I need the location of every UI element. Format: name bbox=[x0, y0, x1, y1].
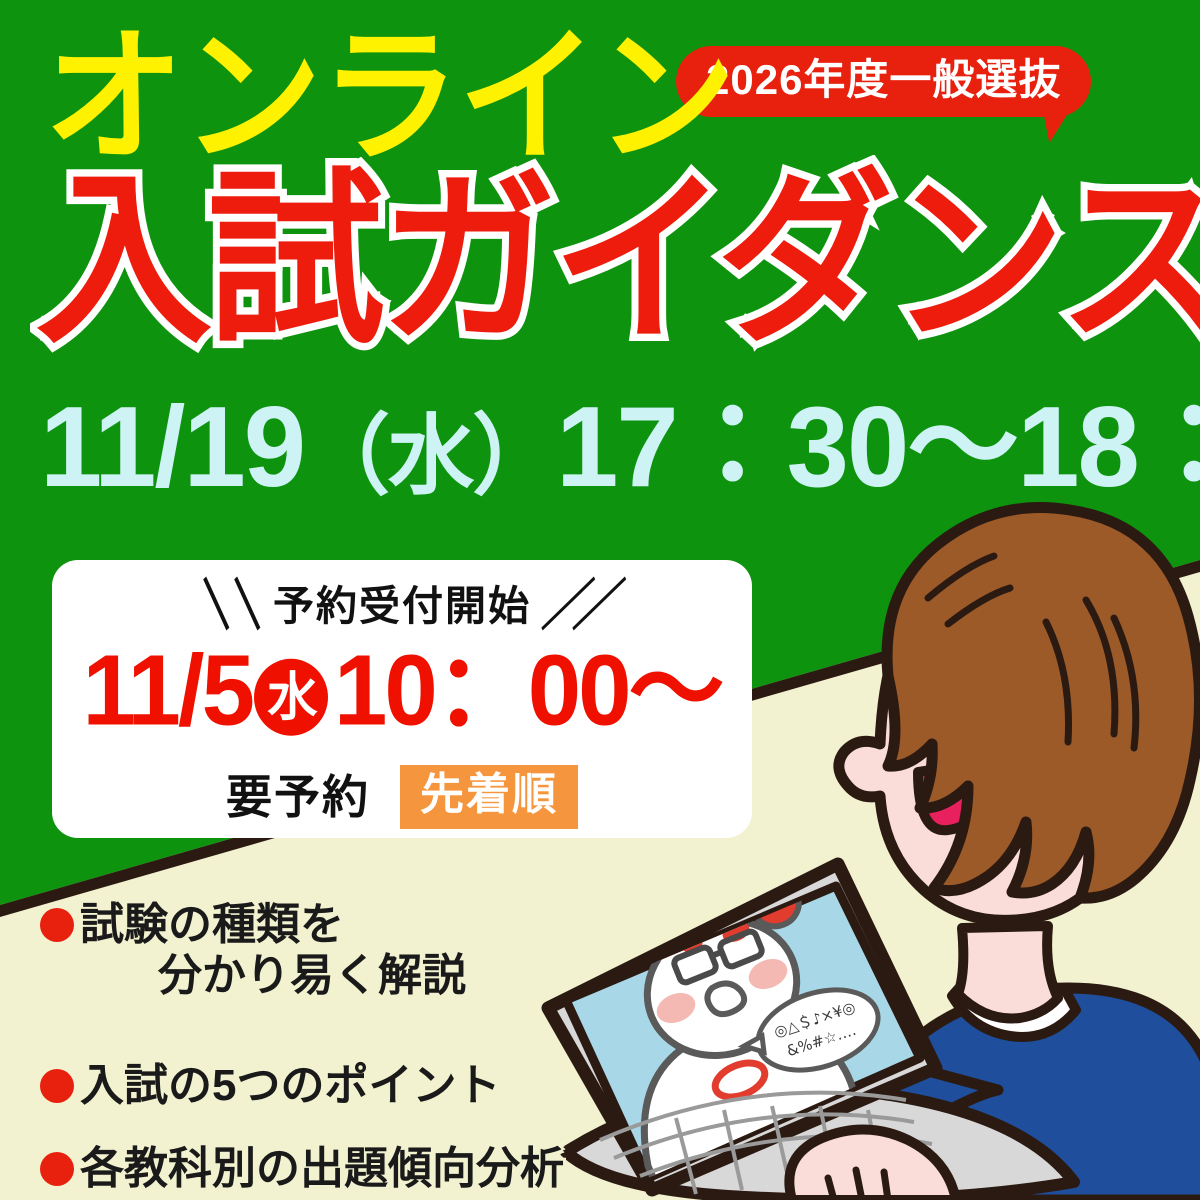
reservation-open-time: 10：00〜 bbox=[334, 635, 722, 746]
reservation-heading: ＼＼予約受付開始／／ bbox=[52, 586, 752, 627]
first-come-badge: 先着順 bbox=[400, 765, 578, 829]
bullet-1-line-2: 分かり易く解説 bbox=[158, 951, 680, 1000]
headline-online: オンライン bbox=[44, 24, 734, 171]
feature-bullet-list: 試験の種類を 分かり易く解説 入試の5つのポイント 各教科別の出題傾向分析 bbox=[40, 900, 680, 1193]
reservation-open-date: 11/5 bbox=[82, 635, 252, 746]
event-date: 11/19 bbox=[40, 383, 304, 511]
reservation-footer: 要予約 先着順 bbox=[52, 765, 752, 829]
bullet-dot-icon bbox=[40, 1152, 74, 1186]
poster-root: ◎△＄♪×¥◎ &%#☆‥‥ 20 bbox=[0, 0, 1200, 1200]
bullet-dot-icon bbox=[40, 908, 74, 942]
exam-year-badge-label: 2026年度一般選抜 bbox=[676, 46, 1091, 117]
bullet-dot-icon bbox=[40, 1069, 74, 1103]
bullet-2-line-1: 入試の5つのポイント bbox=[80, 1061, 500, 1110]
event-time-range: 17：30〜18：30 bbox=[556, 383, 1200, 511]
reservation-required-note: 要予約 bbox=[226, 774, 370, 820]
list-item: 試験の種類を 分かり易く解説 bbox=[40, 900, 680, 1001]
reservation-open-datetime: 11/5水10：00〜 bbox=[52, 641, 752, 741]
headline-guidance: 入試ガイダンス bbox=[36, 168, 1200, 355]
list-item: 各教科別の出題傾向分析 bbox=[40, 1144, 680, 1193]
reservation-card: ＼＼予約受付開始／／ 11/5水10：00〜 要予約 先着順 bbox=[52, 560, 752, 838]
event-datetime-line: 11/19（水）17：30〜18：30 bbox=[40, 390, 1200, 504]
weekday-circle-icon: 水 bbox=[254, 659, 328, 736]
slash-right-decor: ／／ bbox=[539, 579, 617, 634]
bullet-1-line-1: 試験の種類を bbox=[80, 900, 344, 949]
list-item: 入試の5つのポイント bbox=[40, 1061, 680, 1110]
bullet-3-line-1: 各教科別の出題傾向分析 bbox=[80, 1144, 564, 1193]
reservation-heading-label: 予約受付開始 bbox=[273, 583, 531, 629]
exam-year-badge: 2026年度一般選抜 bbox=[676, 46, 1091, 117]
event-weekday: （水） bbox=[304, 407, 556, 505]
slash-left-decor: ＼＼ bbox=[187, 579, 265, 634]
